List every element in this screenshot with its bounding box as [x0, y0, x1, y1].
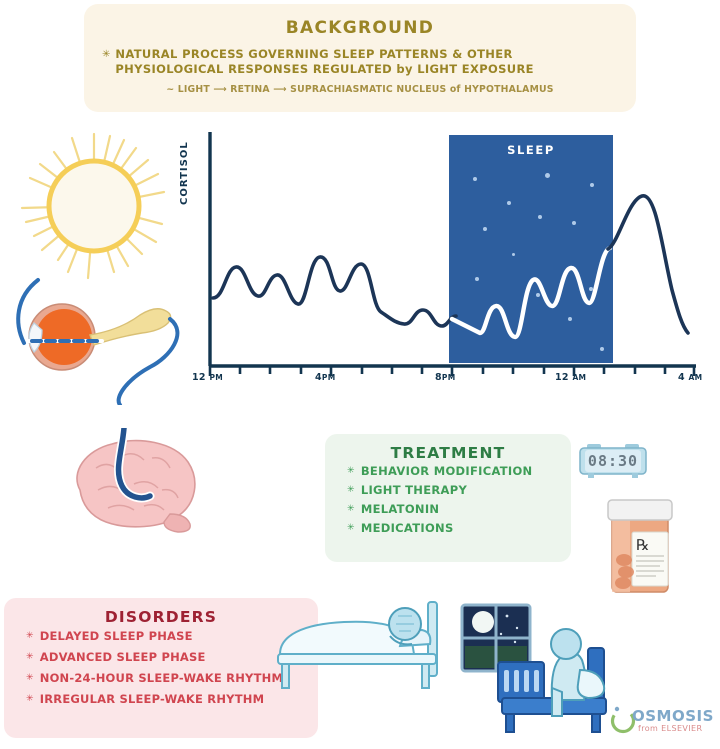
disorders-title: DISORDERS: [4, 608, 318, 626]
pill-bottle-rx-label: ℞: [636, 536, 649, 554]
y-axis-label: CORTISOL: [179, 141, 190, 205]
eye-icon: [10, 275, 195, 405]
asterisk-bullet-icon: ✳: [26, 689, 34, 710]
asterisk-bullet-icon: ✳: [347, 519, 355, 538]
treatment-panel: TREATMENT ✳ BEHAVIOR MODIFICATION ✳ LIGH…: [325, 434, 571, 562]
person-sitting-awake-on-bed-icon: [496, 626, 624, 738]
asterisk-bullet-icon: ✳: [347, 481, 355, 500]
brain-icon: [52, 428, 202, 540]
asterisk-bullet-icon: ✳: [347, 500, 355, 519]
asterisk-bullet-icon: ✳: [102, 47, 110, 77]
x-tick-label-2: 8PM: [435, 372, 455, 383]
cortisol-curve-morning: [608, 196, 688, 333]
treatment-title: TREATMENT: [325, 444, 571, 462]
pill-bottle-icon: ℞: [602, 498, 678, 594]
x-tick-label-0: 12 PM: [192, 372, 223, 383]
digital-alarm-clock-icon: 08:30: [578, 444, 648, 478]
disorder-item-label: IRREGULAR SLEEP-WAKE RHYTHM: [40, 689, 264, 710]
disorder-item-label: NON-24-HOUR SLEEP-WAKE RHYTHM: [40, 668, 283, 689]
asterisk-bullet-icon: ✳: [26, 647, 34, 668]
asterisk-bullet-icon: ✳: [347, 462, 355, 481]
sun-icon: [14, 126, 184, 296]
x-tick-label-4: 4 AM: [678, 372, 702, 383]
background-line-1: NATURAL PROCESS GOVERNING SLEEP PATTERNS…: [115, 47, 533, 62]
chart-plot: [180, 130, 700, 400]
treatment-item-label: MELATONIN: [361, 500, 439, 519]
cortisol-circadian-chart: SLEEP: [180, 130, 700, 400]
person-sleeping-in-bed-icon: [272, 598, 460, 704]
asterisk-bullet-icon: ✳: [26, 626, 34, 647]
treatment-item-label: MEDICATIONS: [361, 519, 454, 538]
disorder-item-label: ADVANCED SLEEP PHASE: [40, 647, 206, 668]
osmosis-logo: OSMOSIS from ELSEVIER: [608, 705, 716, 745]
asterisk-bullet-icon: ✳: [26, 668, 34, 689]
x-tick-label-3: 12 AM: [555, 372, 586, 383]
osmosis-wordmark: OSMOSIS: [632, 707, 714, 725]
treatment-item: ✳ BEHAVIOR MODIFICATION: [347, 462, 571, 481]
background-panel: BACKGROUND ✳ NATURAL PROCESS GOVERNING S…: [84, 4, 636, 112]
background-line-2: PHYSIOLOGICAL RESPONSES REGULATED by LIG…: [115, 62, 533, 77]
x-tick-label-1: 4PM: [315, 372, 335, 383]
disorder-item-label: DELAYED SLEEP PHASE: [40, 626, 193, 647]
treatment-item: ✳ MEDICATIONS: [347, 519, 571, 538]
treatment-item: ✳ MELATONIN: [347, 500, 571, 519]
background-pathway-text: ~ LIGHT ⟶ RETINA ⟶ SUPRACHIASMATIC NUCLE…: [84, 84, 636, 95]
cortisol-curve-day: [213, 257, 456, 326]
treatment-item-label: BEHAVIOR MODIFICATION: [361, 462, 533, 481]
treatment-item: ✳ LIGHT THERAPY: [347, 481, 571, 500]
clock-time-display: 08:30: [585, 450, 641, 472]
disorders-panel: DISORDERS ✳ DELAYED SLEEP PHASE ✳ ADVANC…: [4, 598, 318, 738]
osmosis-subtitle: from ELSEVIER: [638, 724, 702, 733]
cortisol-curve-night: [452, 248, 610, 337]
background-bullet-row: ✳ NATURAL PROCESS GOVERNING SLEEP PATTER…: [102, 47, 636, 77]
background-title: BACKGROUND: [84, 18, 636, 38]
treatment-item-label: LIGHT THERAPY: [361, 481, 467, 500]
